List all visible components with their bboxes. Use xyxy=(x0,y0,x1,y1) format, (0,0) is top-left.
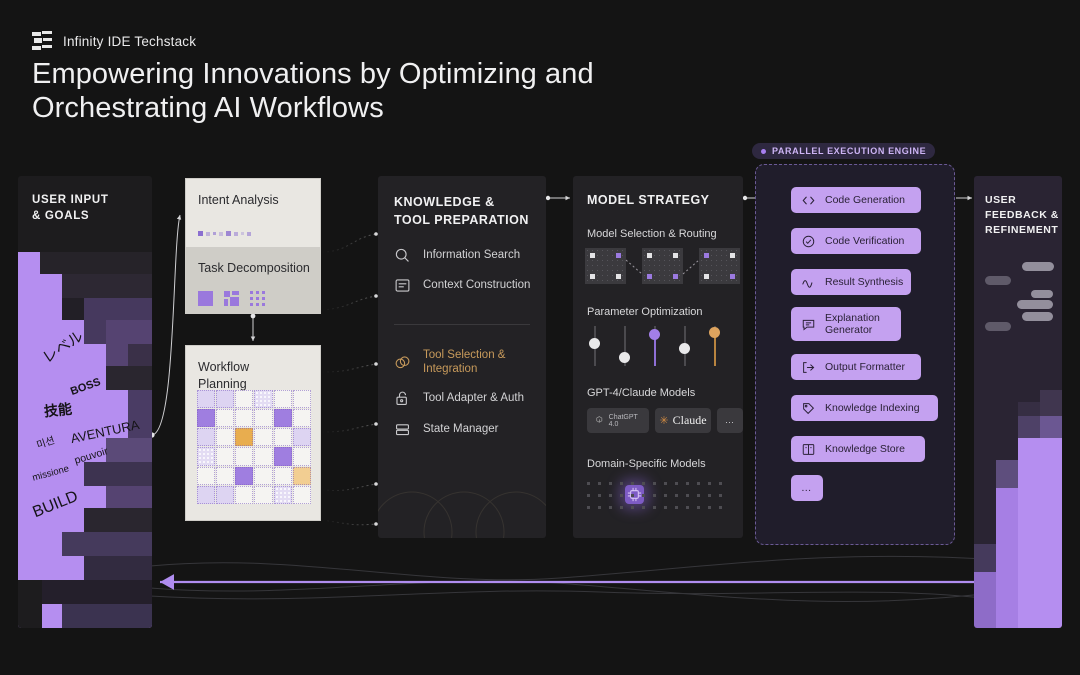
dot xyxy=(587,482,590,485)
workflow-grid-cell[interactable] xyxy=(216,467,234,485)
page-title: Empowering Innovations by Optimizing and… xyxy=(32,58,672,126)
stacked-layers-icon xyxy=(32,31,52,51)
workflow-grid-cell[interactable] xyxy=(254,390,272,408)
dot xyxy=(675,506,678,509)
workflow-grid-cell[interactable] xyxy=(274,428,292,446)
workflow-grid-cell[interactable] xyxy=(197,409,215,427)
workflow-grid-cell[interactable] xyxy=(197,390,215,408)
slider[interactable] xyxy=(617,326,633,366)
workflow-grid-cell[interactable] xyxy=(254,486,272,504)
card-intent-analysis[interactable]: Intent Analysis xyxy=(185,178,321,248)
dot xyxy=(631,494,634,497)
workflow-grid-cell[interactable] xyxy=(254,467,272,485)
knowledge-item-label: Tool Adapter & Auth xyxy=(423,391,524,405)
workflow-grid-cell[interactable] xyxy=(274,467,292,485)
openai-icon xyxy=(594,414,605,427)
workflow-grid-cell[interactable] xyxy=(235,409,253,427)
dot xyxy=(609,506,612,509)
status-dot-icon xyxy=(761,149,766,154)
archive-icon xyxy=(801,442,816,457)
workflow-grid-cell[interactable] xyxy=(274,409,292,427)
dot xyxy=(653,482,656,485)
workflow-grid-cell[interactable] xyxy=(293,390,311,408)
workflow-grid-cell[interactable] xyxy=(197,428,215,446)
feedback-bar xyxy=(985,276,1011,285)
workflow-grid-cell[interactable] xyxy=(216,409,234,427)
dot xyxy=(642,482,645,485)
parallel-engine-badge-label: PARALLEL EXECUTION ENGINE xyxy=(772,146,926,156)
panel-title-model-strategy: MODEL STRATEGY xyxy=(587,193,710,207)
dot xyxy=(697,506,700,509)
panel-model-strategy[interactable]: MODEL STRATEGY Model Selection & Routing… xyxy=(573,176,743,538)
parameter-sliders[interactable] xyxy=(587,326,723,366)
workflow-grid-cell[interactable] xyxy=(293,447,311,465)
engine-item-explanation-generator[interactable]: Explanation Generator xyxy=(791,307,901,341)
dot xyxy=(631,482,634,485)
dot xyxy=(642,494,645,497)
workflow-grid-cell[interactable] xyxy=(254,447,272,465)
workflow-grid-cell[interactable] xyxy=(293,467,311,485)
word-cloud-item: 미션 xyxy=(34,432,56,452)
word-cloud-item: missione xyxy=(31,463,70,483)
dot xyxy=(664,494,667,497)
workflow-grid-cell[interactable] xyxy=(235,447,253,465)
card-workflow-planning[interactable]: Workflow Planning xyxy=(185,345,321,521)
badge-claude[interactable]: ✳ Claude xyxy=(655,408,711,433)
feedback-bar xyxy=(1017,300,1053,309)
linked-circles-icon xyxy=(394,354,411,371)
speech-lines-icon xyxy=(801,317,816,332)
feedback-mosaic xyxy=(974,378,1062,628)
node-graph-links xyxy=(585,248,737,284)
dot xyxy=(708,482,711,485)
panel-parallel-execution-engine[interactable]: Code Generation Code Verification Result… xyxy=(755,164,955,545)
card-task-decomposition[interactable]: Task Decomposition xyxy=(185,248,321,314)
dot xyxy=(708,506,711,509)
task-decomposition-icons xyxy=(198,291,265,306)
code-brackets-icon xyxy=(801,193,816,208)
parallel-engine-badge: PARALLEL EXECUTION ENGINE xyxy=(752,143,935,159)
section-label-parameter-optimization: Parameter Optimization xyxy=(587,306,703,318)
word-cloud-item: 技能 xyxy=(43,399,73,422)
search-icon xyxy=(394,247,411,264)
panel-knowledge-tool-preparation[interactable]: KNOWLEDGE &TOOL PREPARATION Information … xyxy=(378,176,546,538)
dot xyxy=(719,494,722,497)
knowledge-item-state-manager[interactable]: State Manager xyxy=(394,421,498,438)
split-block-icon xyxy=(224,291,239,306)
dot xyxy=(598,482,601,485)
workflow-grid-cell[interactable] xyxy=(216,428,234,446)
engine-item-label: Result Synthesis xyxy=(825,276,903,288)
knowledge-item-label: Context Construction xyxy=(423,278,530,292)
engine-item-code-verification[interactable]: Code Verification xyxy=(791,228,921,254)
claude-sparkle-icon: ✳ xyxy=(659,414,668,427)
dot xyxy=(686,494,689,497)
feedback-bar xyxy=(985,322,1011,331)
dot xyxy=(620,494,623,497)
engine-item-output-formatter[interactable]: Output Formatter xyxy=(791,354,921,380)
knowledge-item-context-construction[interactable]: Context Construction xyxy=(394,277,530,294)
dot xyxy=(686,482,689,485)
feedback-bar xyxy=(1031,290,1053,298)
workflow-grid-cell[interactable] xyxy=(293,409,311,427)
engine-item-result-synthesis[interactable]: Result Synthesis xyxy=(791,269,911,295)
workflow-grid-cell[interactable] xyxy=(274,486,292,504)
knowledge-item-label: State Manager xyxy=(423,422,498,436)
workflow-grid-cell[interactable] xyxy=(216,486,234,504)
dot xyxy=(664,482,667,485)
word-cloud-item: pouvoir xyxy=(73,445,109,467)
workflow-grid-cell[interactable] xyxy=(216,447,234,465)
panel-title-knowledge: KNOWLEDGE & xyxy=(394,195,495,209)
workflow-grid-cell[interactable] xyxy=(197,486,215,504)
dot xyxy=(675,494,678,497)
workflow-grid-cell[interactable] xyxy=(293,428,311,446)
brand-name: Infinity IDE Techstack xyxy=(63,34,196,49)
slider[interactable] xyxy=(647,326,663,366)
slider[interactable] xyxy=(587,326,603,366)
dot xyxy=(653,494,656,497)
engine-item-more[interactable]: … xyxy=(791,475,823,501)
workflow-grid-cell[interactable] xyxy=(254,409,272,427)
word-cloud: レベル BOSS 技能 AVENTURA 미션 pouvoir missione… xyxy=(18,176,152,628)
dot xyxy=(620,482,623,485)
badge-label: ChatGPT 4.0 xyxy=(609,414,642,428)
dot xyxy=(620,506,623,509)
dot xyxy=(719,506,722,509)
engine-item-code-generation[interactable]: Code Generation xyxy=(791,187,921,213)
word-cloud-item: BUILD xyxy=(30,488,80,522)
dot xyxy=(664,506,667,509)
intent-dot-row xyxy=(198,231,251,236)
dot xyxy=(587,506,590,509)
solid-block-icon xyxy=(198,291,213,306)
knowledge-arc-decoration xyxy=(378,458,546,538)
unlock-icon xyxy=(394,390,411,407)
engine-item-label: Explanation Generator xyxy=(825,312,887,336)
workflow-heatmap-grid[interactable] xyxy=(197,390,311,504)
workflow-grid-cell[interactable] xyxy=(197,467,215,485)
dot xyxy=(609,482,612,485)
engine-item-label: Knowledge Indexing xyxy=(825,402,920,414)
word-cloud-item: AVENTURA xyxy=(69,417,140,446)
dot xyxy=(719,482,722,485)
tag-icon xyxy=(801,401,816,416)
dot xyxy=(686,506,689,509)
panel-title-feedback: USER xyxy=(985,194,1016,206)
dot xyxy=(642,506,645,509)
workflow-grid-cell[interactable] xyxy=(293,486,311,504)
section-label-model-selection: Model Selection & Routing xyxy=(587,228,717,240)
knowledge-item-tool-adapter-auth[interactable]: Tool Adapter & Auth xyxy=(394,390,524,407)
engine-item-label: Code Generation xyxy=(825,194,905,206)
wave-icon xyxy=(801,275,816,290)
workflow-grid-cell[interactable] xyxy=(235,467,253,485)
panel-title-user-input: USER INPUT xyxy=(32,194,109,206)
workflow-grid-cell[interactable] xyxy=(197,447,215,465)
workflow-grid-cell[interactable] xyxy=(235,486,253,504)
panel-user-feedback-refinement[interactable]: USER FEEDBACK & REFINEMENT xyxy=(974,176,1062,628)
dot xyxy=(598,506,601,509)
model-badges[interactable]: ChatGPT 4.0 ✳ Claude … xyxy=(587,408,743,433)
workflow-grid-cell[interactable] xyxy=(274,390,292,408)
dot xyxy=(598,494,601,497)
brand-row: Infinity IDE Techstack xyxy=(32,31,196,51)
workflow-grid-cell[interactable] xyxy=(235,428,253,446)
word-cloud-item: レベル xyxy=(38,325,87,368)
word-cloud-item: BOSS xyxy=(69,376,102,398)
section-label-domain-models: Domain-Specific Models xyxy=(587,458,706,470)
panel-user-input[interactable]: レベル BOSS 技能 AVENTURA 미션 pouvoir missione… xyxy=(18,176,152,628)
badge-label: Claude xyxy=(673,413,707,428)
dot xyxy=(653,506,656,509)
ellipsis-icon: … xyxy=(725,415,736,426)
badge-chatgpt[interactable]: ChatGPT 4.0 xyxy=(587,408,649,433)
card-title-intent-analysis: Intent Analysis xyxy=(198,192,298,209)
dot xyxy=(587,494,590,497)
engine-item-knowledge-indexing[interactable]: Knowledge Indexing xyxy=(791,395,938,421)
workflow-grid-cell[interactable] xyxy=(216,390,234,408)
export-arrow-icon xyxy=(801,360,816,375)
dot xyxy=(675,482,678,485)
engine-item-knowledge-store[interactable]: Knowledge Store xyxy=(791,436,925,462)
dot xyxy=(609,494,612,497)
workflow-grid-cell[interactable] xyxy=(274,447,292,465)
feedback-bar xyxy=(1022,312,1053,321)
slider[interactable] xyxy=(707,326,723,366)
knowledge-item-label: Information Search xyxy=(423,248,520,262)
engine-item-label: Knowledge Store xyxy=(825,443,905,455)
feedback-bar xyxy=(1022,262,1054,271)
document-lines-icon xyxy=(394,277,411,294)
diagram-canvas: Infinity IDE Techstack Empowering Innova… xyxy=(0,0,1080,675)
knowledge-item-information-search[interactable]: Information Search xyxy=(394,247,520,264)
knowledge-item-label: Tool Selection & Integration xyxy=(423,348,519,377)
check-seal-icon xyxy=(801,234,816,249)
dot xyxy=(631,506,634,509)
card-title-task-decomposition: Task Decomposition xyxy=(198,260,310,277)
section-label-gpt-claude: GPT-4/Claude Models xyxy=(587,387,695,399)
slider[interactable] xyxy=(677,326,693,366)
knowledge-item-tool-selection[interactable]: Tool Selection & Integration xyxy=(394,348,519,377)
ellipsis-icon: … xyxy=(801,482,813,494)
knowledge-divider xyxy=(394,324,530,325)
fragmented-block-icon xyxy=(250,291,265,306)
dot xyxy=(708,494,711,497)
badge-more[interactable]: … xyxy=(717,408,743,433)
domain-model-dot-grid xyxy=(587,478,731,512)
engine-item-label: Code Verification xyxy=(825,235,904,247)
dot xyxy=(697,482,700,485)
server-stack-icon xyxy=(394,421,411,438)
card-title-workflow-planning: Workflow Planning xyxy=(198,359,298,392)
workflow-grid-cell[interactable] xyxy=(235,390,253,408)
engine-item-label: Output Formatter xyxy=(825,361,905,373)
workflow-grid-cell[interactable] xyxy=(254,428,272,446)
dot xyxy=(697,494,700,497)
